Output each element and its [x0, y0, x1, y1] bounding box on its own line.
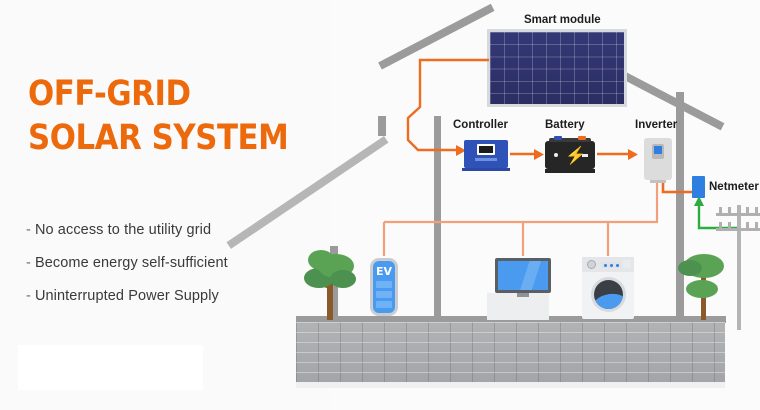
washing-machine [582, 257, 634, 319]
stone-foundation [296, 322, 725, 382]
inverter-base [650, 180, 666, 183]
utility-pole [737, 205, 741, 330]
tree-left [300, 248, 362, 320]
lightning-bolt-icon: ⚡ [565, 148, 586, 163]
charge-controller [464, 140, 508, 168]
wall-gable-left [378, 116, 386, 136]
ev-charger-band [376, 281, 392, 288]
battery-base [545, 169, 595, 173]
title-line-1: OFF-GRID [28, 72, 292, 116]
washer-water [594, 291, 623, 309]
pole-insulator [719, 207, 722, 213]
tv-stand [487, 293, 549, 320]
bullet-dash: - [26, 255, 31, 271]
ev-charger-band [376, 301, 392, 308]
tree-foliage [308, 250, 334, 270]
ev-charger: EV [370, 258, 398, 316]
pole-insulator [746, 207, 749, 213]
list-item: -Uninterrupted Power Supply [26, 288, 326, 304]
inverter-display [652, 144, 664, 159]
netmeter-unit [692, 176, 705, 198]
inverter-unit [644, 138, 672, 180]
list-item: -Become energy self-sufficient [26, 255, 326, 271]
ev-charger-label: EV [373, 265, 395, 278]
washer-led [616, 264, 619, 267]
bullet-text: Become energy self-sufficient [35, 255, 228, 271]
pole-crossarm-lower [716, 228, 760, 231]
washer-led [610, 264, 613, 267]
solar-panel [487, 29, 627, 107]
washer-indicator-strip [601, 262, 621, 268]
controller-screen [477, 144, 495, 155]
netmeter-label: Netmeter [709, 181, 759, 193]
pole-insulator [728, 222, 731, 228]
pole-insulator [728, 207, 731, 213]
bullet-dash: - [26, 222, 31, 238]
controller-label: Controller [453, 119, 508, 131]
foundation-shadow [296, 382, 725, 388]
tree-foliage [686, 280, 718, 298]
washer-drum [591, 277, 626, 312]
tv-screen-glare [517, 261, 542, 290]
smart-module-label: Smart module [524, 14, 601, 26]
wall-interior [434, 116, 441, 321]
pole-insulator [746, 222, 749, 228]
washer-detergent-tray [623, 260, 631, 268]
bullet-text: No access to the utility grid [35, 222, 211, 238]
bullet-text: Uninterrupted Power Supply [35, 288, 219, 304]
page-title: OFF-GRID SOLAR SYSTEM [28, 72, 292, 160]
title-line-2: SOLAR SYSTEM [28, 116, 292, 160]
background-white-block [18, 345, 203, 390]
television [495, 258, 551, 293]
controller-base [462, 168, 510, 171]
pole-crossarm-upper [716, 213, 760, 216]
washer-led [604, 264, 607, 267]
infographic-canvas: OFF-GRID SOLAR SYSTEM -No access to the … [0, 0, 760, 410]
washer-dial [587, 260, 596, 269]
pole-insulator [755, 207, 758, 213]
bullet-dash: - [26, 288, 31, 304]
list-item: -No access to the utility grid [26, 222, 326, 238]
tree-foliage [330, 270, 356, 288]
ev-charger-band [376, 291, 392, 298]
pole-insulator [755, 222, 758, 228]
inverter-label: Inverter [635, 119, 677, 131]
battery-bank: ⚡ [545, 141, 595, 169]
battery-positive-terminal [554, 153, 558, 157]
tv-stand-neck [517, 293, 529, 297]
tree-foliage [678, 260, 702, 276]
battery-terminal-cap-orange [578, 136, 586, 140]
solar-panel-cells [490, 32, 624, 104]
tv-screen [498, 261, 548, 290]
tree-right [676, 252, 732, 320]
battery-label: Battery [545, 119, 585, 131]
controller-brand-strip [475, 158, 497, 161]
battery-terminal-cap-blue [554, 136, 562, 140]
pole-insulator [719, 222, 722, 228]
benefits-list: -No access to the utility grid -Become e… [26, 222, 326, 321]
